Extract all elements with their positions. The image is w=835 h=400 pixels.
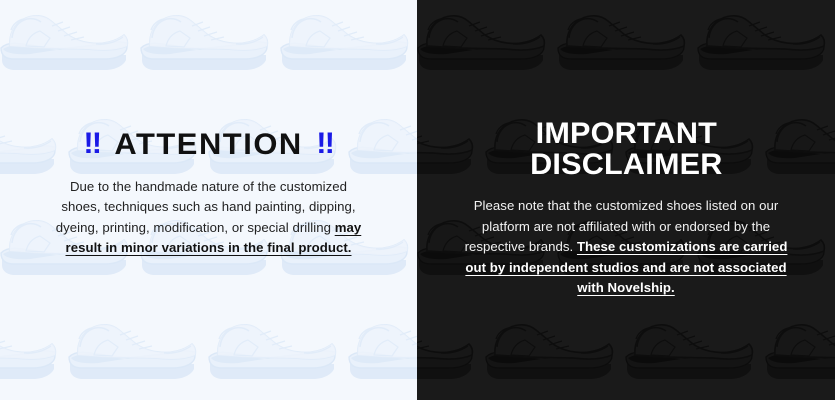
disclaimer-heading: IMPORTANT DISCLAIMER	[530, 118, 722, 180]
attention-body-normal: Due to the handmade nature of the custom…	[56, 179, 356, 235]
disclaimer-body-text: Please note that the customized shoes li…	[458, 196, 794, 298]
disclaimer-heading-line2: DISCLAIMER	[530, 149, 722, 180]
attention-content: ‼ ATTENTION ‼ Due to the handmade nature…	[0, 0, 417, 400]
attention-body-text: Due to the handmade nature of the custom…	[53, 177, 365, 259]
disclaimer-content: IMPORTANT DISCLAIMER Please note that th…	[417, 0, 835, 400]
disclaimer-heading-line1: IMPORTANT	[535, 117, 716, 150]
attention-heading: ‼ ATTENTION ‼	[83, 130, 333, 160]
double-exclamation-left-icon: ‼	[83, 129, 101, 159]
double-exclamation-right-icon: ‼	[316, 129, 334, 159]
attention-heading-word: ATTENTION	[114, 130, 302, 160]
attention-panel: ‼ ATTENTION ‼ Due to the handmade nature…	[0, 0, 417, 400]
notice-banner: ‼ ATTENTION ‼ Due to the handmade nature…	[0, 0, 835, 400]
disclaimer-panel: IMPORTANT DISCLAIMER Please note that th…	[417, 0, 835, 400]
